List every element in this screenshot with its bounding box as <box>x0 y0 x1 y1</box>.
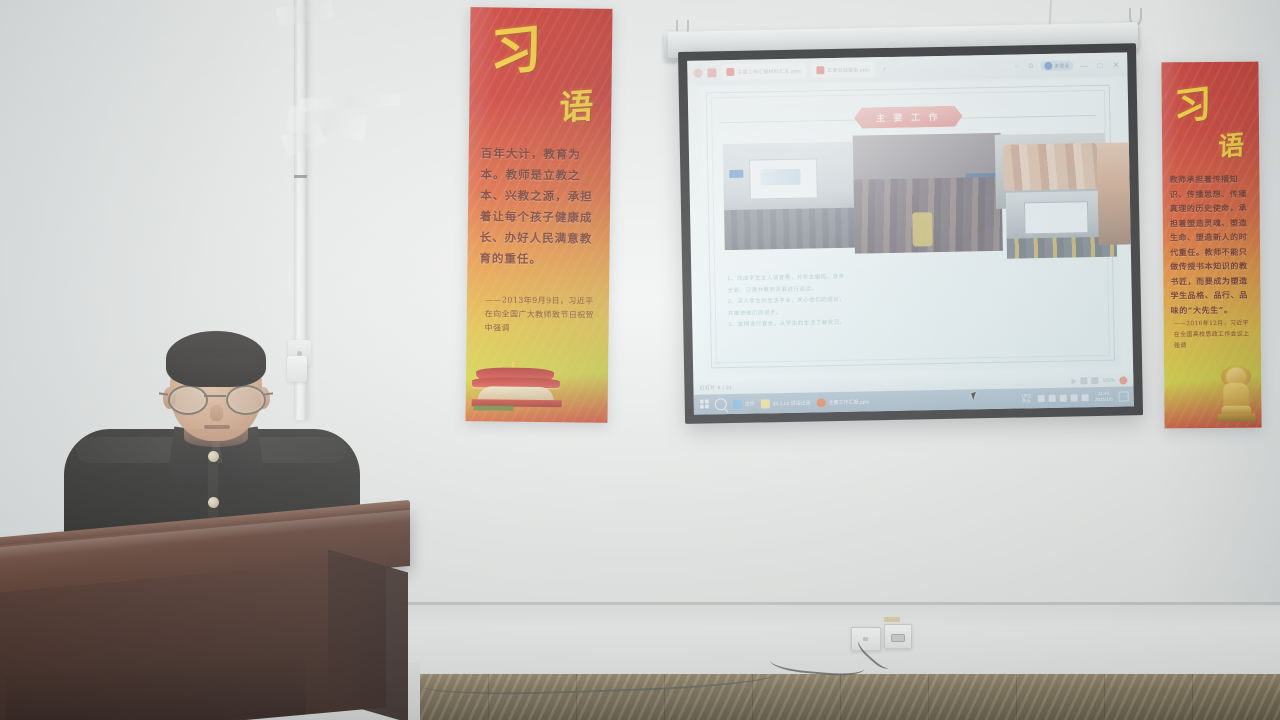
conference-room-photo: 主要工作汇报材料汇总.pptx 年度总结报告.pptx + ○ ⚙ 未登录 — … <box>0 0 1280 720</box>
photo-vignette <box>0 0 1280 720</box>
